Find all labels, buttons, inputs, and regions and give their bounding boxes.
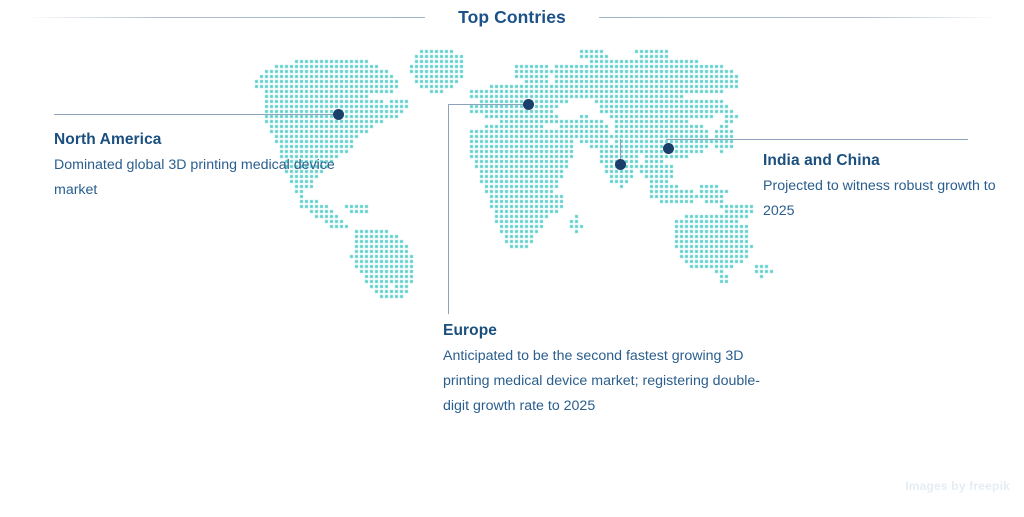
connector-europe-vertical — [448, 104, 449, 314]
china-marker[interactable] — [663, 143, 674, 154]
world-map-dots — [0, 0, 1024, 517]
callout-north-america-body: Dominated global 3D printing medical dev… — [54, 153, 354, 203]
north-america-marker[interactable] — [333, 109, 344, 120]
callout-north-america: North America Dominated global 3D printi… — [54, 131, 354, 203]
europe-marker[interactable] — [523, 99, 534, 110]
callout-europe-heading: Europe — [443, 322, 763, 340]
world-map — [0, 0, 1024, 517]
connector-north-america — [54, 114, 340, 115]
callout-europe: Europe Anticipated to be the second fast… — [443, 322, 763, 419]
connector-europe-horizontal — [448, 104, 530, 105]
callout-india-china: India and China Projected to witness rob… — [763, 152, 1023, 224]
callout-india-china-body: Projected to witness robust growth to 20… — [763, 174, 1023, 224]
callout-europe-body: Anticipated to be the second fastest gro… — [443, 344, 763, 419]
connector-china-horizontal — [666, 139, 968, 140]
india-marker[interactable] — [615, 159, 626, 170]
watermark: Images by freepik — [860, 479, 1010, 493]
callout-india-china-heading: India and China — [763, 152, 1023, 170]
infographic-canvas: Top Contries North America Dominated glo… — [0, 0, 1024, 517]
callout-north-america-heading: North America — [54, 131, 354, 149]
